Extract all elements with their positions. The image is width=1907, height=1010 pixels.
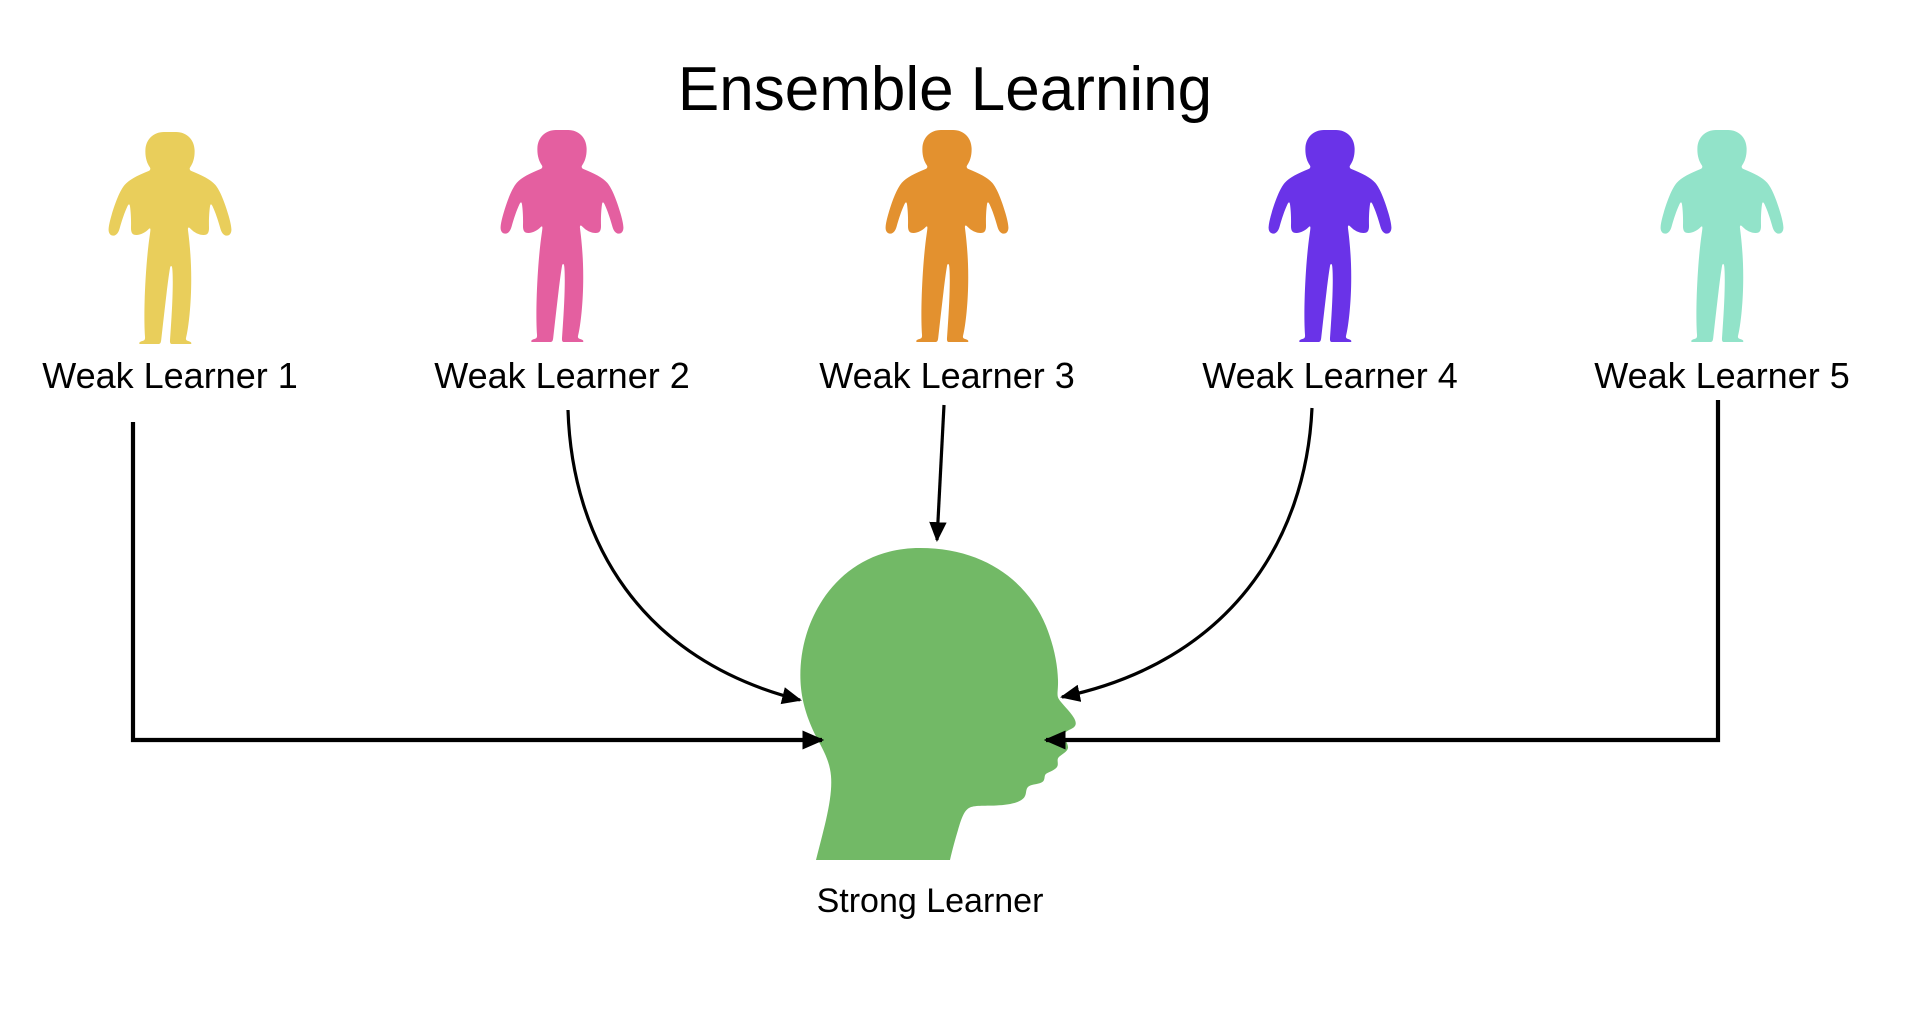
weak-learner-4[interactable]: Weak Learner 4 bbox=[1202, 130, 1457, 396]
page-title: Ensemble Learning bbox=[678, 55, 1212, 124]
weak-learner-1[interactable]: Weak Learner 1 bbox=[42, 132, 297, 396]
weak-learner-1-label: Weak Learner 1 bbox=[42, 355, 297, 396]
weak-learner-4-label: Weak Learner 4 bbox=[1202, 355, 1457, 396]
head-profile-icon bbox=[800, 548, 1075, 860]
diagram-canvas: Ensemble Learning Weak Learner 1 Weak Le… bbox=[0, 0, 1907, 1010]
weak-learner-2-label: Weak Learner 2 bbox=[434, 355, 689, 396]
person-standing-icon bbox=[109, 132, 232, 344]
strong-learner-label: Strong Learner bbox=[817, 882, 1044, 920]
person-standing-icon bbox=[1269, 130, 1392, 342]
connector-weak5-to-strong bbox=[1046, 400, 1718, 740]
connector-weak1-to-strong bbox=[133, 422, 822, 740]
weak-learner-3-label: Weak Learner 3 bbox=[819, 355, 1074, 396]
weak-learner-5[interactable]: Weak Learner 5 bbox=[1594, 130, 1849, 396]
weak-learner-2[interactable]: Weak Learner 2 bbox=[434, 130, 689, 396]
person-standing-icon bbox=[886, 130, 1009, 342]
weak-learner-5-label: Weak Learner 5 bbox=[1594, 355, 1849, 396]
ensemble-learning-diagram: Ensemble Learning Weak Learner 1 Weak Le… bbox=[0, 0, 1907, 1010]
person-standing-icon bbox=[501, 130, 624, 342]
strong-learner[interactable]: Strong Learner bbox=[800, 548, 1075, 920]
weak-learner-3[interactable]: Weak Learner 3 bbox=[819, 130, 1074, 396]
person-standing-icon bbox=[1661, 130, 1784, 342]
connector-weak4-to-strong bbox=[1062, 408, 1312, 697]
connector-weak3-to-strong bbox=[937, 405, 944, 540]
connector-weak2-to-strong bbox=[568, 410, 800, 700]
